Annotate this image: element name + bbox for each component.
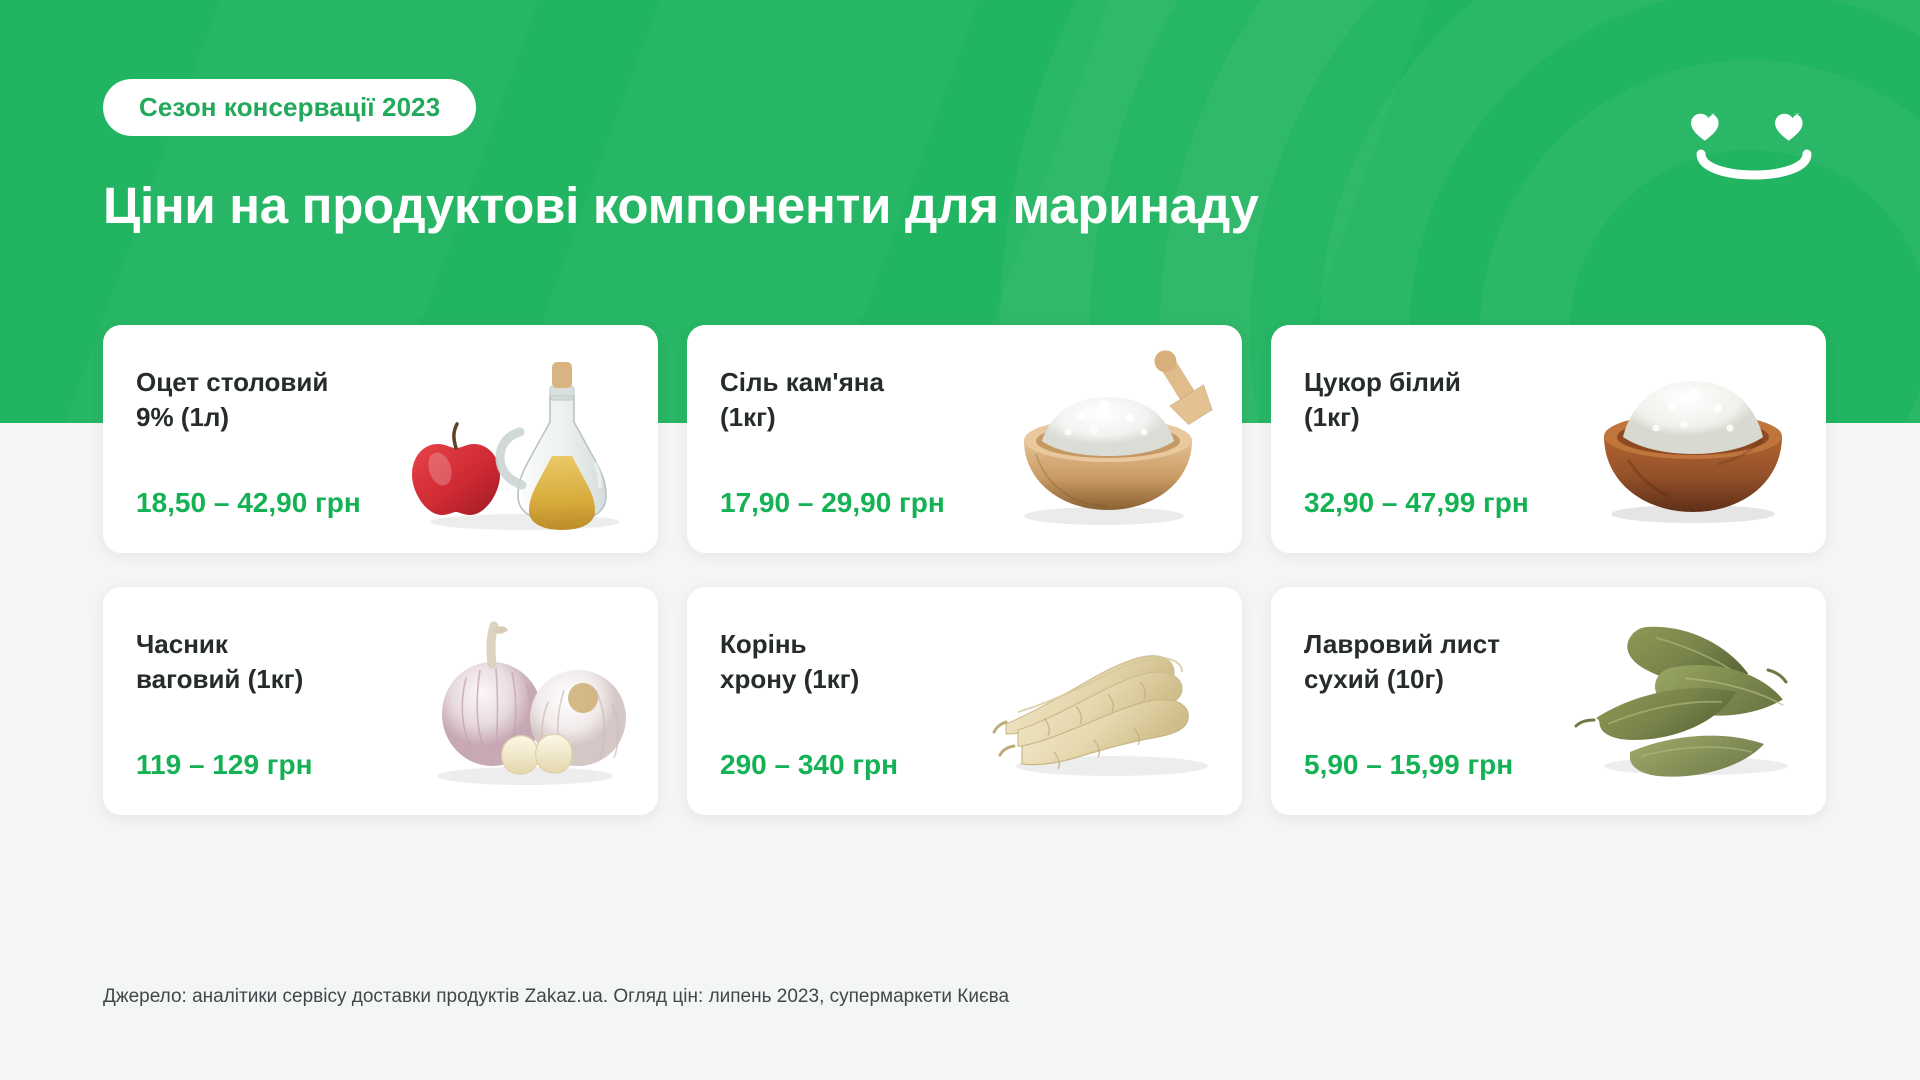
sugar-wooden-bowl-image <box>1568 344 1818 534</box>
product-card[interactable]: Лавровий лист сухий (10г) 5,90 – 15,99 г… <box>1271 587 1826 815</box>
product-name: Сіль кам'яна (1кг) <box>720 365 1020 434</box>
product-price: 290 – 340 грн <box>720 749 898 781</box>
product-card[interactable]: Часник ваговий (1кг) 119 – 129 грн <box>103 587 658 815</box>
product-name: Цукор білий (1кг) <box>1304 365 1604 434</box>
product-card[interactable]: Цукор білий (1кг) 32,90 – 47,99 грн <box>1271 325 1826 553</box>
product-card[interactable]: Корінь хрону (1кг) 290 – 340 грн <box>687 587 1242 815</box>
smiley-heart-eyes-logo <box>1684 104 1824 196</box>
product-price: 32,90 – 47,99 грн <box>1304 487 1529 519</box>
bay-leaves-image <box>1568 606 1818 796</box>
salt-bowl-with-scoop-image <box>984 344 1234 534</box>
source-note: Джерело: аналітики сервісу доставки прод… <box>103 986 1009 1008</box>
product-card[interactable]: Сіль кам'яна (1кг) 17,90 – 29,90 грн <box>687 325 1242 553</box>
product-cards-grid: Оцет столовий 9% (1л) 18,50 – 42,90 грн <box>103 325 1835 815</box>
product-name: Оцет столовий 9% (1л) <box>136 365 436 434</box>
product-name: Корінь хрону (1кг) <box>720 627 1020 696</box>
season-badge: Сезон консервації 2023 <box>103 79 476 136</box>
product-name: Часник ваговий (1кг) <box>136 627 436 696</box>
product-card[interactable]: Оцет столовий 9% (1л) 18,50 – 42,90 грн <box>103 325 658 553</box>
page-title: Ціни на продуктові компоненти для марина… <box>103 176 1259 235</box>
product-name: Лавровий лист сухий (10г) <box>1304 627 1604 696</box>
product-price: 18,50 – 42,90 грн <box>136 487 361 519</box>
product-price: 119 – 129 грн <box>136 749 312 781</box>
product-price: 5,90 – 15,99 грн <box>1304 749 1513 781</box>
season-badge-label: Сезон консервації 2023 <box>139 92 440 123</box>
horseradish-roots-image <box>984 606 1234 796</box>
product-price: 17,90 – 29,90 грн <box>720 487 945 519</box>
garlic-bulbs-image <box>400 606 650 796</box>
vinegar-cruet-and-apple-image <box>400 344 650 534</box>
